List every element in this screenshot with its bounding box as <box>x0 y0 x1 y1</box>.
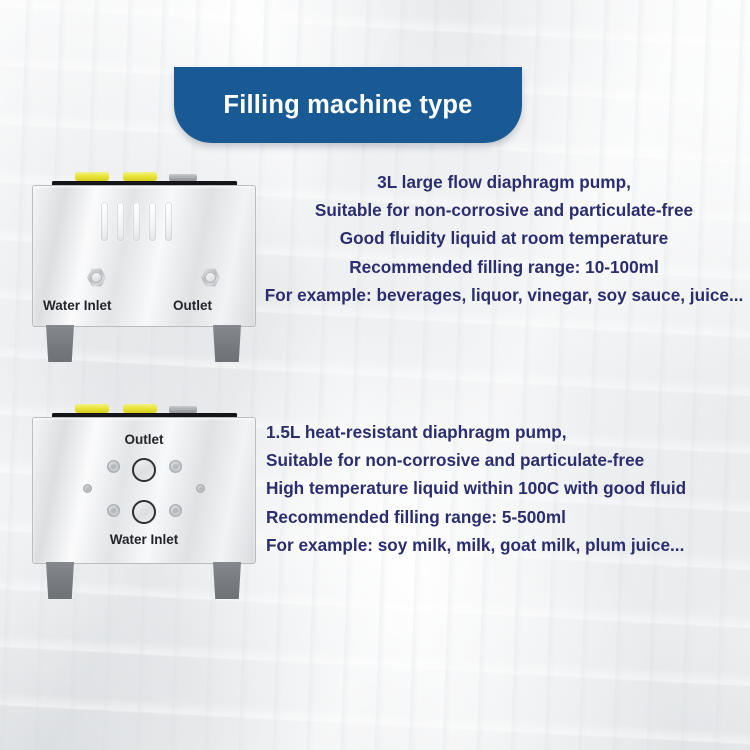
hex-fitting-outlet-icon <box>201 268 220 287</box>
vent-slot <box>149 202 156 241</box>
vent-slot <box>117 202 124 241</box>
machine-label-outlet: Outlet <box>33 432 255 447</box>
header-banner: Filling machine type <box>174 67 522 143</box>
infographic-page: Filling machine type <box>0 0 750 750</box>
machine-legs <box>32 325 254 363</box>
bolt-icon <box>196 484 205 493</box>
bolt-icon <box>107 504 120 517</box>
bolt-icon <box>107 460 120 473</box>
machine-illustration-3l: Water Inlet Outlet <box>32 172 254 368</box>
vent-slot <box>133 202 140 241</box>
machine-leg-right <box>213 325 241 362</box>
connector-yellow-right <box>123 404 157 413</box>
connector-yellow-left <box>75 172 109 181</box>
spec-text-block-3l: 3L large flow diaphragm pump, Suitable f… <box>258 174 750 304</box>
page-title: Filling machine type <box>223 91 472 120</box>
port-cluster <box>83 456 205 530</box>
connector-yellow-right <box>123 172 157 181</box>
machine-legs <box>32 562 254 600</box>
connector-gray <box>169 406 197 413</box>
product-row-1: Water Inlet Outlet 3L large flow diaphra… <box>0 168 750 368</box>
machine-label-water-inlet: Water Inlet <box>43 298 112 313</box>
hex-nut-bore <box>205 272 216 283</box>
connector-yellow-left <box>75 404 109 413</box>
spec-line: 1.5L heat-resistant diaphragm pump, <box>266 424 750 441</box>
ventilation-slots <box>101 202 172 241</box>
machine-illustration-15l: Outlet Water Inlet <box>32 404 254 606</box>
vent-slot <box>165 202 172 241</box>
spec-line: High temperature liquid within 100C with… <box>266 480 750 497</box>
machine-body-panel: Outlet Water Inlet <box>32 417 256 564</box>
machine-body-panel: Water Inlet Outlet <box>32 185 256 327</box>
vent-slot <box>101 202 108 241</box>
machine-label-water-inlet: Water Inlet <box>33 532 255 547</box>
machine-leg-left <box>46 562 74 599</box>
spec-line: For example: beverages, liquor, vinegar,… <box>258 287 750 304</box>
hex-nut-bore <box>91 272 102 283</box>
hex-fitting-water-inlet-icon <box>87 268 106 287</box>
machine-label-outlet: Outlet <box>173 298 212 313</box>
connector-gray <box>169 174 197 181</box>
spec-line: Recommended filling range: 5-500ml <box>266 509 750 526</box>
spec-line: Suitable for non-corrosive and particula… <box>266 452 750 469</box>
product-row-2: Outlet Water Inlet 1.5L hea <box>0 402 750 608</box>
machine-leg-right <box>213 562 241 599</box>
spec-line: For example: soy milk, milk, goat milk, … <box>266 537 750 554</box>
spec-line: 3L large flow diaphragm pump, <box>258 174 750 191</box>
spec-text-block-15l: 1.5L heat-resistant diaphragm pump, Suit… <box>266 424 750 554</box>
port-outlet-icon <box>132 458 156 482</box>
bolt-icon <box>169 504 182 517</box>
bolt-icon <box>83 484 92 493</box>
port-water-inlet-icon <box>132 500 156 524</box>
bolt-icon <box>169 460 182 473</box>
machine-leg-left <box>46 325 74 362</box>
spec-line: Suitable for non-corrosive and particula… <box>258 202 750 219</box>
spec-line: Recommended filling range: 10-100ml <box>258 259 750 276</box>
spec-line: Good fluidity liquid at room temperature <box>258 230 750 247</box>
